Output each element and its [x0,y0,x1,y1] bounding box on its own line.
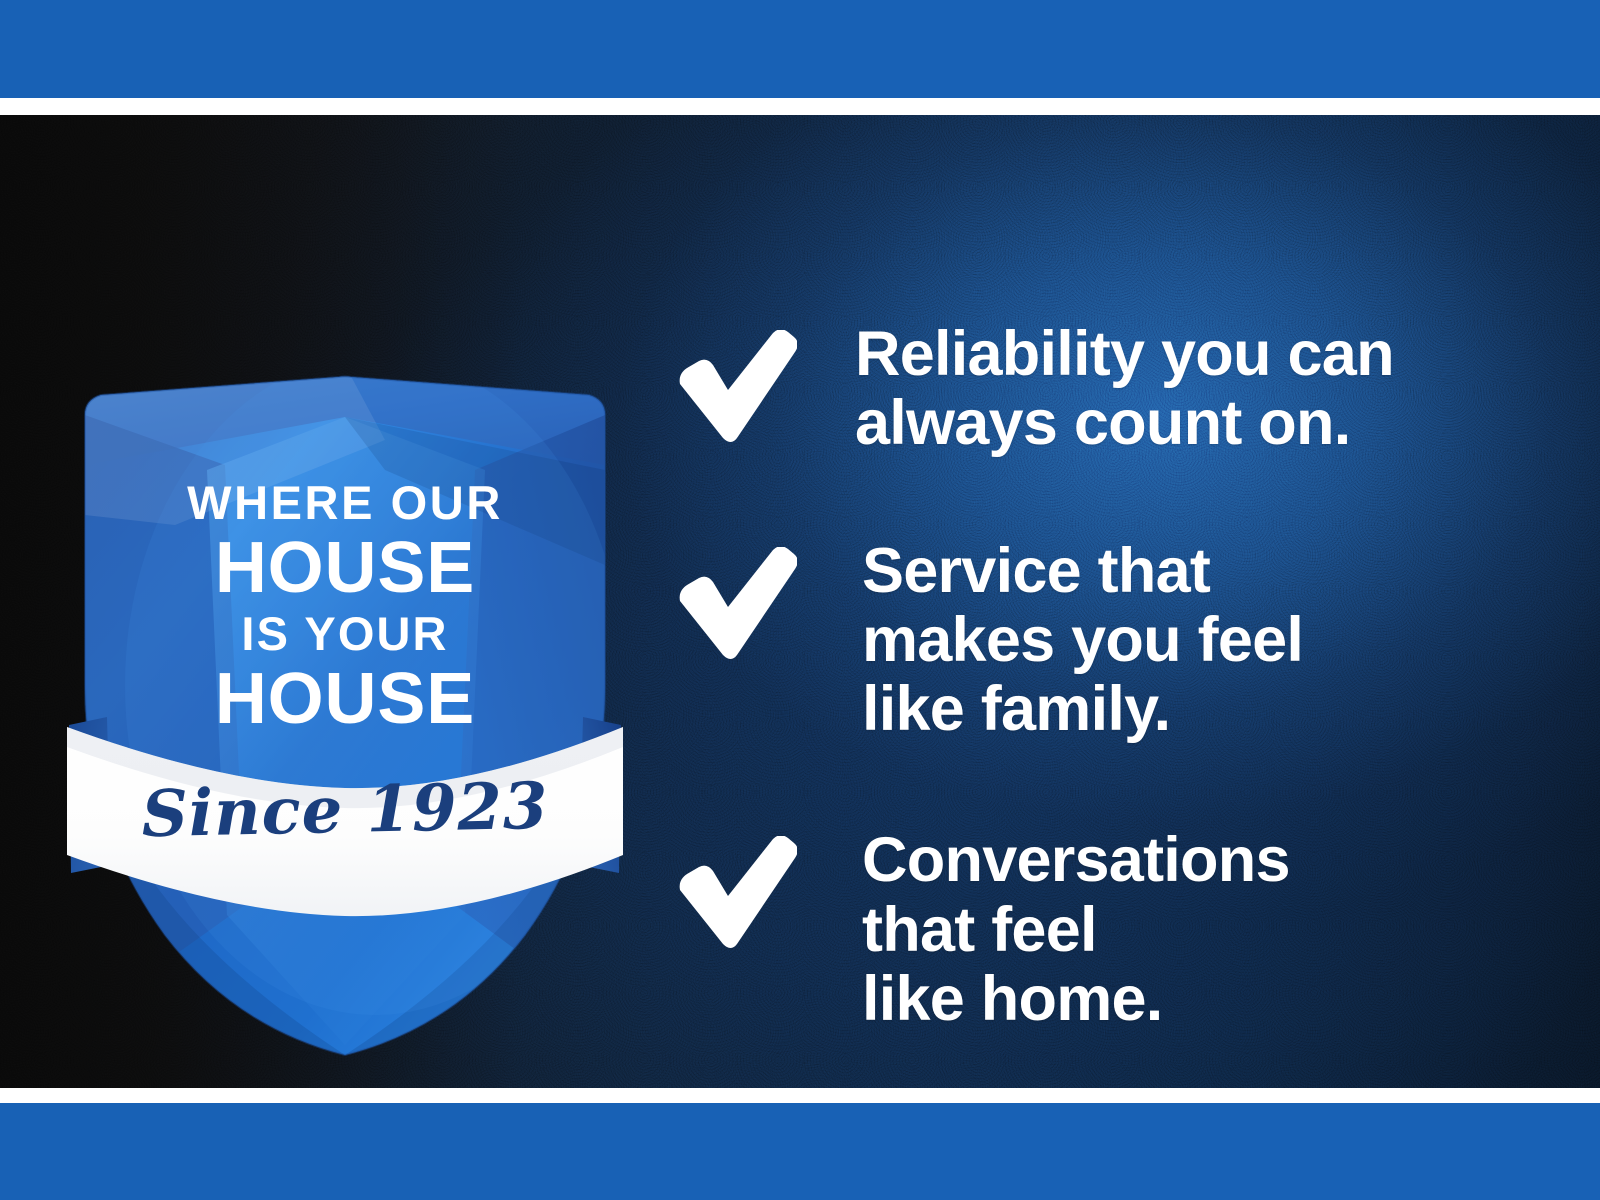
brand-bar-bottom [0,1103,1600,1200]
benefit-text-conversations: Conversations that feel like home. [862,826,1525,1034]
benefit-item-conversations: Conversations that feel like home. [665,744,1525,1034]
shield-badge: WHERE OUR HOUSE IS YOUR HOUSE Since 1923 [55,265,635,1065]
benefit-line: Service that [862,536,1210,606]
checkmark-icon [673,547,797,663]
benefit-line: makes you feel [862,605,1303,675]
checkmark-icon [673,330,797,446]
marketing-graphic: WHERE OUR HOUSE IS YOUR HOUSE Since 1923… [0,0,1600,1200]
benefit-line: Reliability you can [855,319,1394,389]
benefit-list: Reliability you can always count on. Ser… [665,310,1525,1034]
benefit-item-reliability: Reliability you can always count on. [665,310,1525,459]
benefit-text-reliability: Reliability you can always count on. [855,320,1525,459]
checkmark-icon [673,836,797,952]
benefit-line: Conversations [862,825,1290,895]
benefit-line: like home. [862,964,1163,1034]
shield-body [85,355,625,1060]
content-stage: WHERE OUR HOUSE IS YOUR HOUSE Since 1923… [0,115,1600,1088]
brand-bar-top [0,0,1600,98]
benefit-line: that feel [862,895,1097,965]
benefit-item-service: Service that makes you feel like family. [665,459,1525,745]
benefit-line: like family. [862,674,1170,744]
benefit-text-service: Service that makes you feel like family. [862,537,1525,745]
benefit-line: always count on. [855,388,1351,458]
